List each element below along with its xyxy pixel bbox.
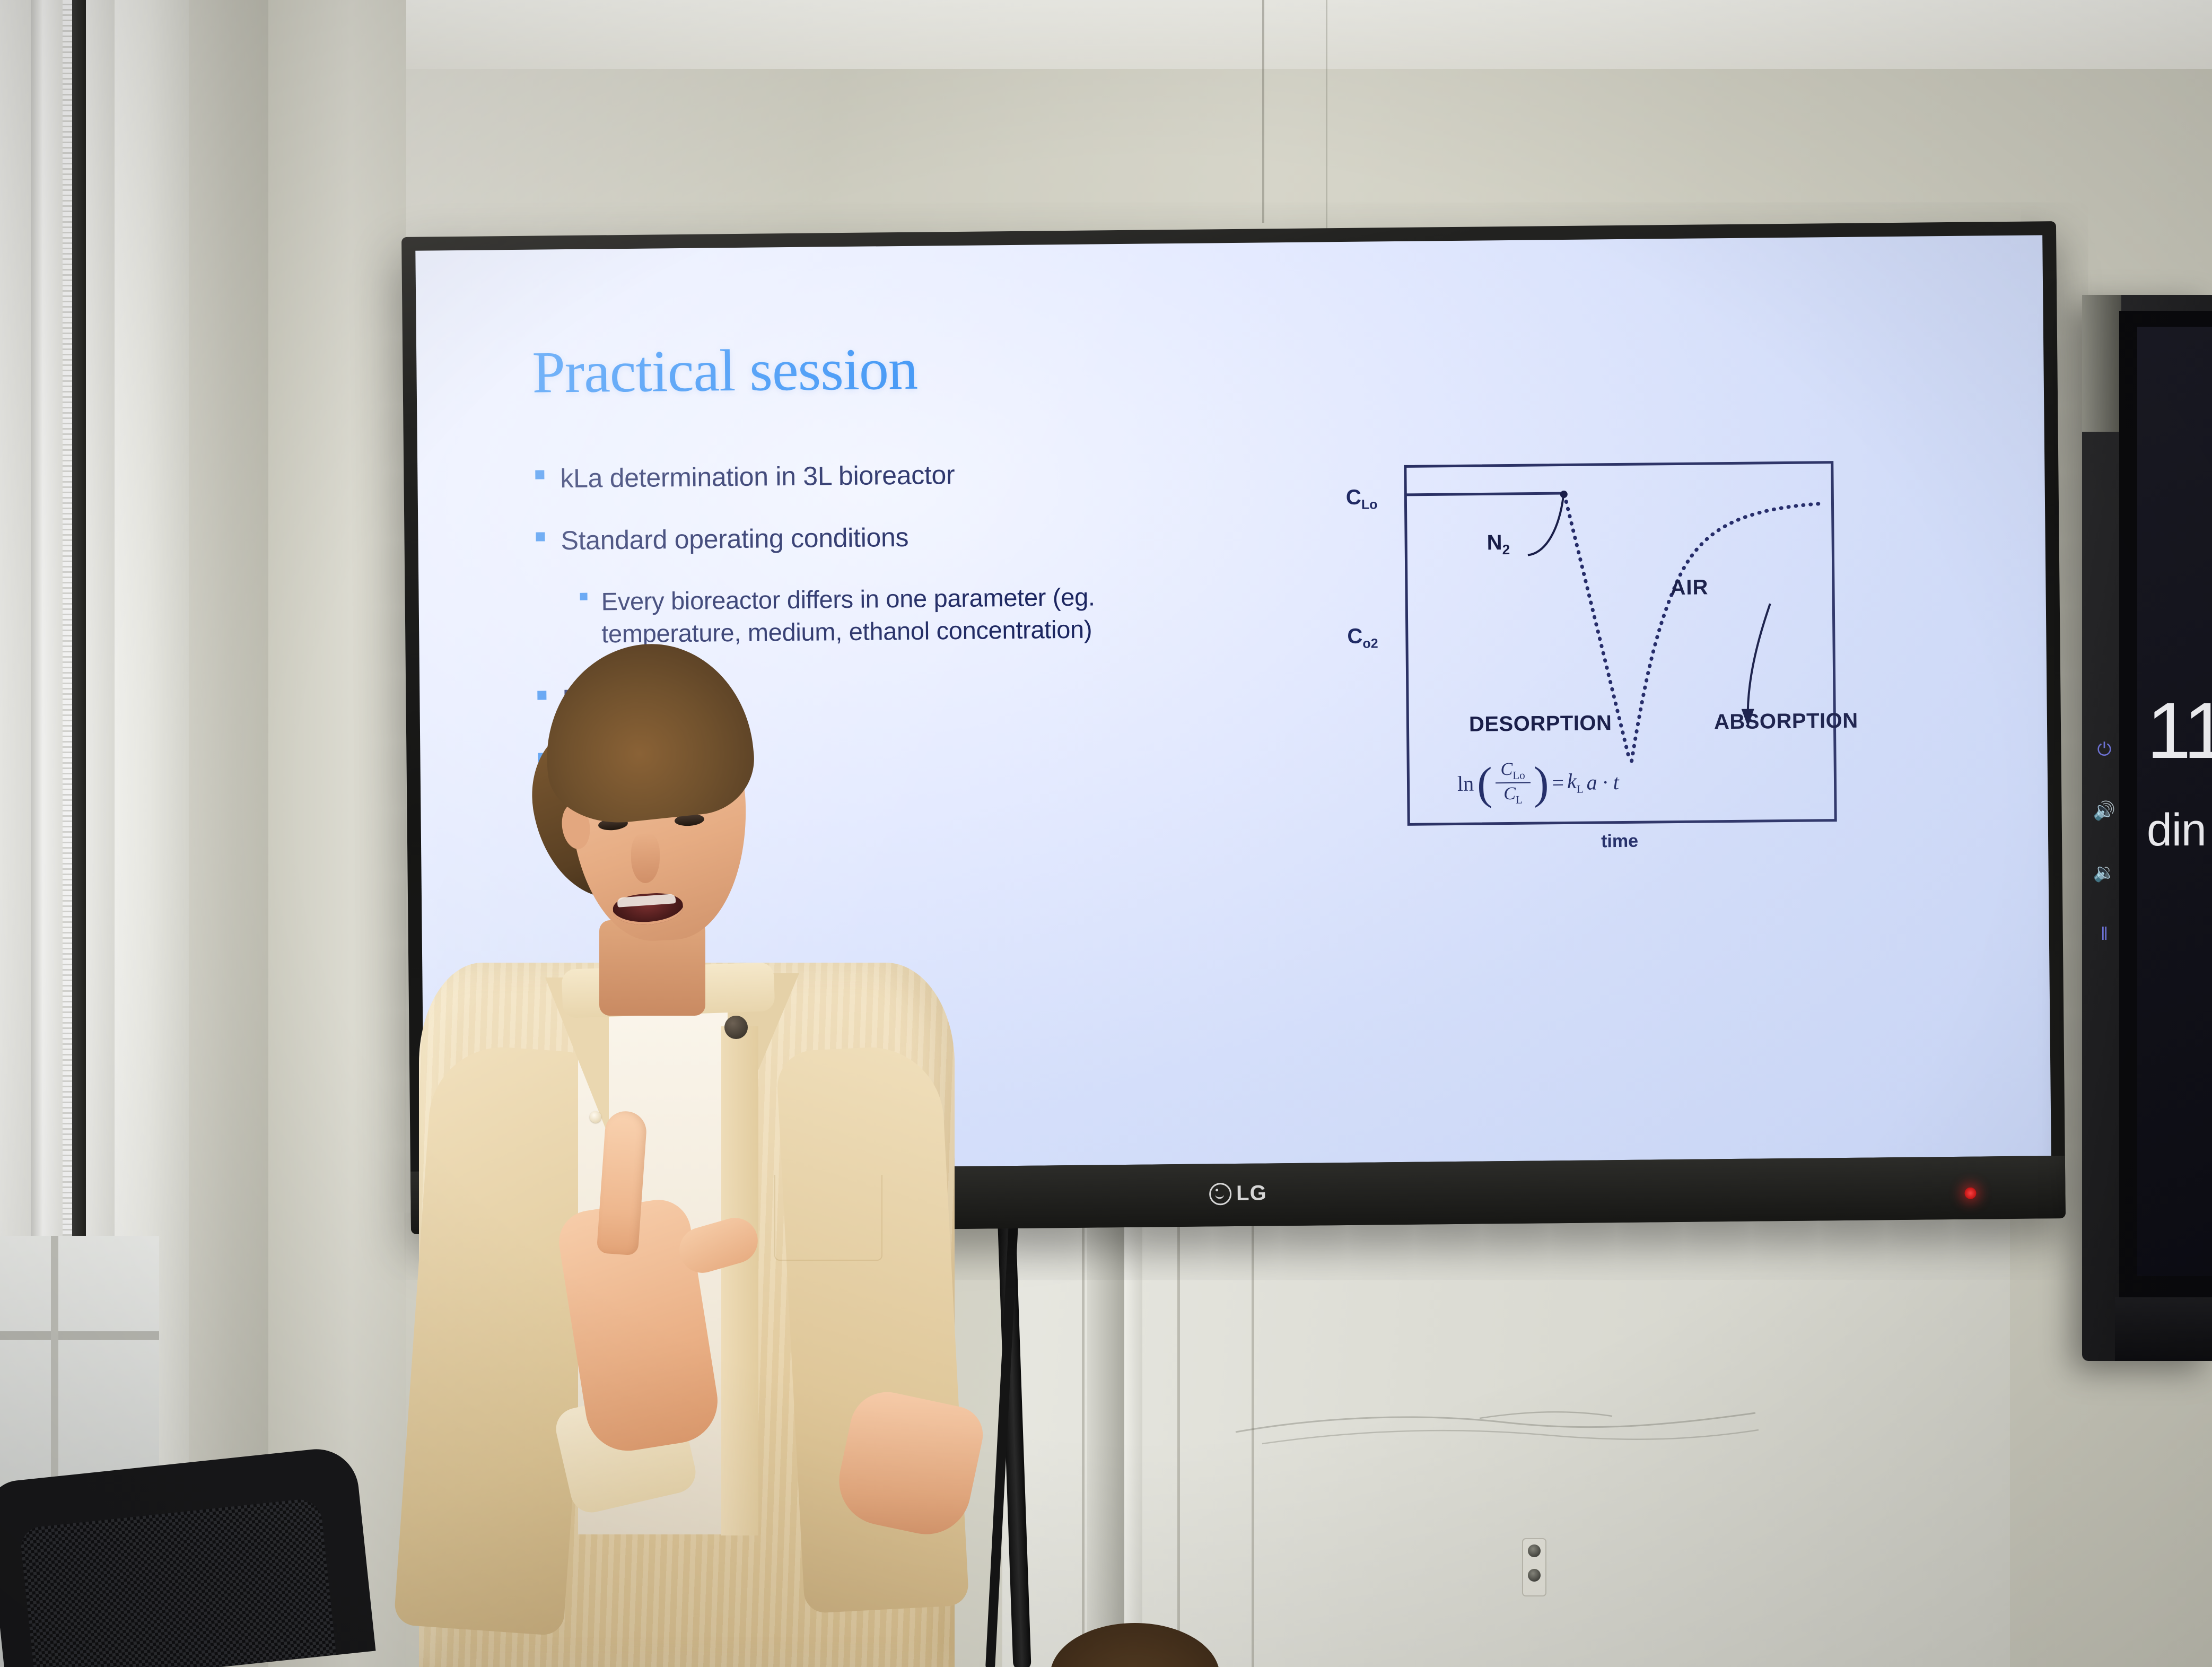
slide-title: Practical session: [532, 339, 917, 403]
annotation-desorption: DESORPTION: [1469, 711, 1612, 737]
bullet-item-2: Standard operating conditions: [536, 517, 1210, 558]
pause-icon[interactable]: ‖: [2101, 925, 2108, 943]
whiteboard-scribble: [1230, 1395, 1761, 1459]
shirt-pocket: [774, 1175, 882, 1261]
screenshot-root: Practical session kLa determination in 3…: [0, 0, 2212, 1667]
secondary-monitor-headline: 11: [2147, 693, 2212, 769]
shirt-toggle-button: [724, 1016, 748, 1039]
annotation-air: AIR: [1670, 575, 1708, 600]
display-stand-post: [1087, 1215, 1124, 1667]
monitor-side-trim: [2082, 295, 2121, 432]
standby-led-indicator: [1964, 1188, 1976, 1199]
power-icon[interactable]: ⏻: [2097, 740, 2112, 758]
bullet-marker-icon: [536, 532, 545, 541]
axis-label-co2: Co2: [1347, 624, 1378, 652]
power-outlet: [1522, 1538, 1546, 1596]
annotation-n2: N2: [1487, 531, 1510, 558]
bullet-text: Standard operating conditions: [561, 520, 908, 558]
slide-figure: CLo Co2: [1340, 449, 1896, 894]
office-chair: [0, 1464, 366, 1667]
wall-column-3: [268, 0, 406, 1667]
presenter-nose: [631, 833, 660, 883]
bullet-marker-icon: [580, 593, 588, 600]
bullet-item-3-sub: Every bioreactor differs in one paramete…: [580, 579, 1210, 650]
axis-label-clo: CLo: [1346, 485, 1378, 513]
wall-column-2: [189, 0, 268, 1667]
secondary-monitor-subline: din: [2147, 804, 2206, 857]
shirt-button: [590, 1111, 601, 1123]
axis-label-time: time: [1344, 828, 1895, 854]
bullet-text: Every bioreactor differs in one paramete…: [601, 579, 1210, 650]
window-rail: [0, 1331, 159, 1340]
bullet-text: kLa determination in 3L bioreactor: [560, 458, 955, 496]
lg-wordmark: LG: [1236, 1181, 1267, 1206]
outlet-socket-bottom: [1528, 1569, 1541, 1582]
panel-seam-2: [1177, 1220, 1180, 1667]
panel-seam-1: [1082, 1220, 1085, 1667]
bullet-item-1: kLa determination in 3L bioreactor: [535, 455, 1209, 496]
lg-mark-icon: [1209, 1183, 1231, 1205]
monitor-control-strip[interactable]: ⏻ 🔊 🔉 ‖: [2089, 740, 2119, 943]
whiteboard: [1002, 1220, 2010, 1667]
chart-formula: ln ( CLo CL ) = kL a · t: [1457, 759, 1620, 806]
volume-down-icon[interactable]: 🔉: [2093, 863, 2115, 881]
secondary-monitor-foot: [2115, 1297, 2212, 1361]
secondary-monitor[interactable]: 11 din ⏻ 🔊 🔉 ‖: [2082, 295, 2212, 1361]
display-stand-post-highlight: [1124, 1215, 1142, 1667]
shirt-placket: [721, 1026, 758, 1535]
lg-logo: LG: [1209, 1181, 1267, 1206]
presenter-hair: [536, 634, 759, 830]
presenter: [403, 644, 965, 1667]
wall-seam: [1262, 0, 1264, 223]
volume-up-icon[interactable]: 🔊: [2093, 802, 2115, 820]
wall-seam-secondary: [1326, 0, 1327, 265]
outlet-socket-top: [1528, 1544, 1541, 1557]
annotation-absorption: ABSORPTION: [1714, 709, 1858, 735]
bullet-marker-icon: [535, 470, 544, 479]
secondary-monitor-screen[interactable]: 11 din: [2137, 327, 2212, 1276]
